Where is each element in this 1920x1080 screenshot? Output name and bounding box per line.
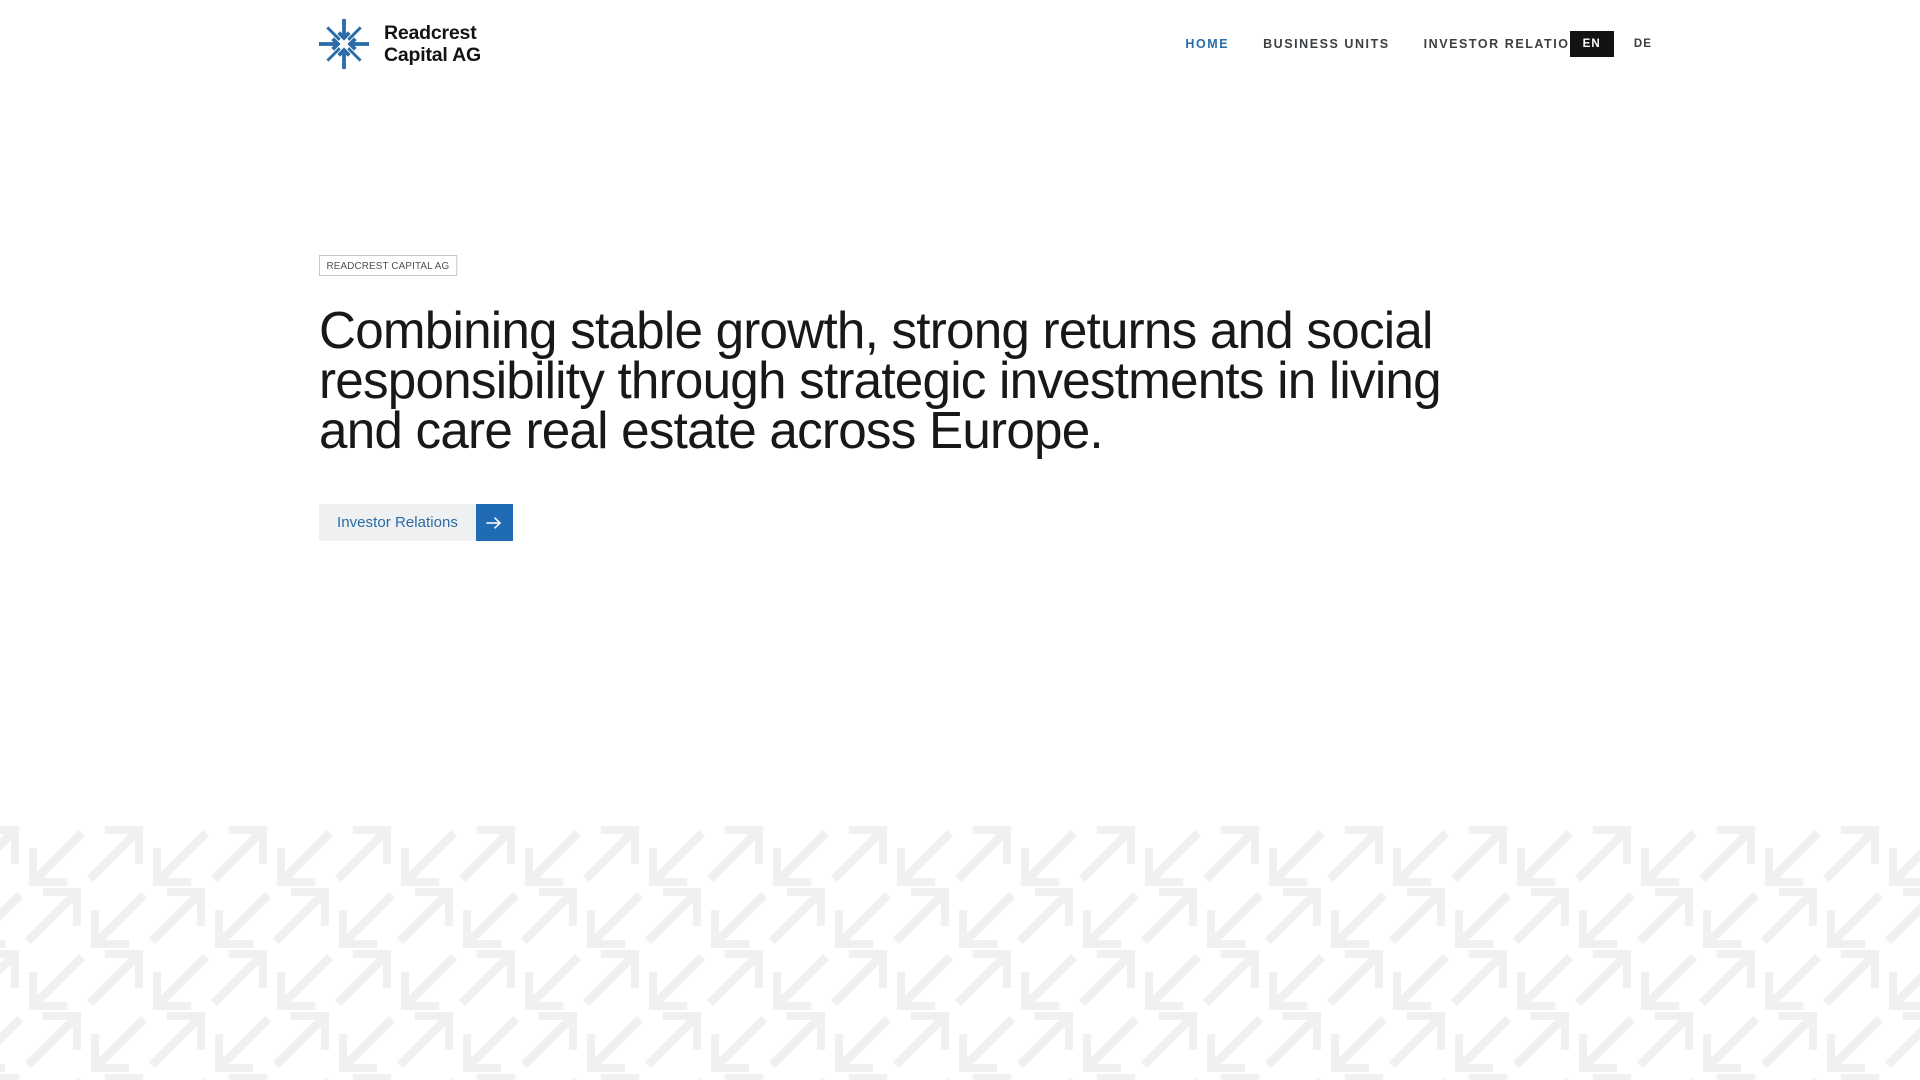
language-option-en[interactable]: EN: [1570, 31, 1614, 57]
language-switcher: EN DE: [1570, 31, 1662, 57]
investor-relations-cta-button[interactable]: Investor Relations: [319, 504, 513, 541]
brand-wordmark: Readcrest Capital AG: [384, 22, 481, 66]
investor-relations-cta-label: Investor Relations: [319, 504, 476, 541]
language-option-de[interactable]: DE: [1624, 31, 1662, 57]
hero-content: READCREST CAPITAL AG Combining stable gr…: [319, 255, 1619, 541]
nav-item-investor-relations[interactable]: Investor Relations: [1424, 31, 1590, 57]
nav-item-business-units[interactable]: Business Units: [1263, 31, 1390, 57]
primary-navigation: Home Business Units Investor Relations: [1185, 31, 1590, 57]
nav-item-home[interactable]: Home: [1185, 31, 1229, 57]
hero-section: READCREST CAPITAL AG Combining stable gr…: [0, 0, 1920, 810]
eight-point-arrow-burst-icon: [318, 18, 370, 70]
arrow-right-icon: [476, 504, 513, 541]
brand-logo-link[interactable]: Readcrest Capital AG: [318, 18, 481, 70]
hero-eyebrow-badge: READCREST CAPITAL AG: [319, 255, 457, 276]
page-root: Readcrest Capital AG Home Business Units…: [0, 0, 1920, 1080]
hero-headline: Combining stable growth, strong returns …: [319, 306, 1467, 456]
site-header: Readcrest Capital AG Home Business Units…: [0, 0, 1920, 96]
diagonal-arrows-pattern: [0, 825, 1920, 1080]
